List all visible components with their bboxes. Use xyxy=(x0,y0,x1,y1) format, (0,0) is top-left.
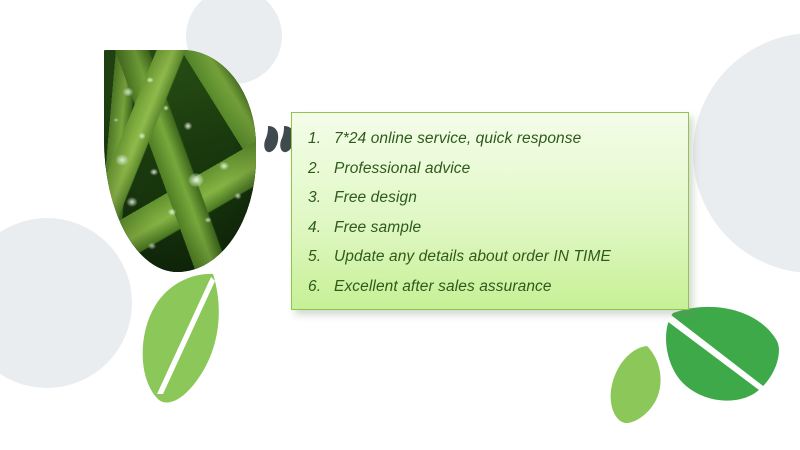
list-item: 5. Update any details about order IN TIM… xyxy=(308,242,674,272)
list-item: 2. Professional advice xyxy=(308,154,674,184)
list-item-text: Professional advice xyxy=(334,154,470,184)
list-item-text: Excellent after sales assurance xyxy=(334,272,552,302)
list-item-text: Update any details about order IN TIME xyxy=(334,242,611,272)
leaf-icon-bottom-right-large xyxy=(663,305,779,403)
leaf-photo-image xyxy=(104,50,256,272)
list-item-number: 1. xyxy=(308,124,334,154)
list-item: 1. 7*24 online service, quick response xyxy=(308,124,674,154)
list-item-text: Free sample xyxy=(334,213,421,243)
list-item-text: Free design xyxy=(334,183,417,213)
grass-droplets-photo xyxy=(104,50,256,272)
list-item-number: 2. xyxy=(308,154,334,184)
leaf-icon-bottom-right-small xyxy=(609,344,665,424)
list-item-number: 4. xyxy=(308,213,334,243)
list-item: 3. Free design xyxy=(308,183,674,213)
leaf-icon-bottom-left xyxy=(141,272,225,405)
list-item-number: 6. xyxy=(308,272,334,302)
list-item: 4. Free sample xyxy=(308,213,674,243)
decorative-circle-top-right xyxy=(693,33,800,273)
slide-canvas: 1. 7*24 online service, quick response 2… xyxy=(0,0,800,450)
list-item-text: 7*24 online service, quick response xyxy=(334,124,581,154)
list-item: 6. Excellent after sales assurance xyxy=(308,272,674,302)
advantages-card: 1. 7*24 online service, quick response 2… xyxy=(291,112,689,310)
advantages-list: 1. 7*24 online service, quick response 2… xyxy=(308,124,674,302)
list-item-number: 5. xyxy=(308,242,334,272)
list-item-number: 3. xyxy=(308,183,334,213)
